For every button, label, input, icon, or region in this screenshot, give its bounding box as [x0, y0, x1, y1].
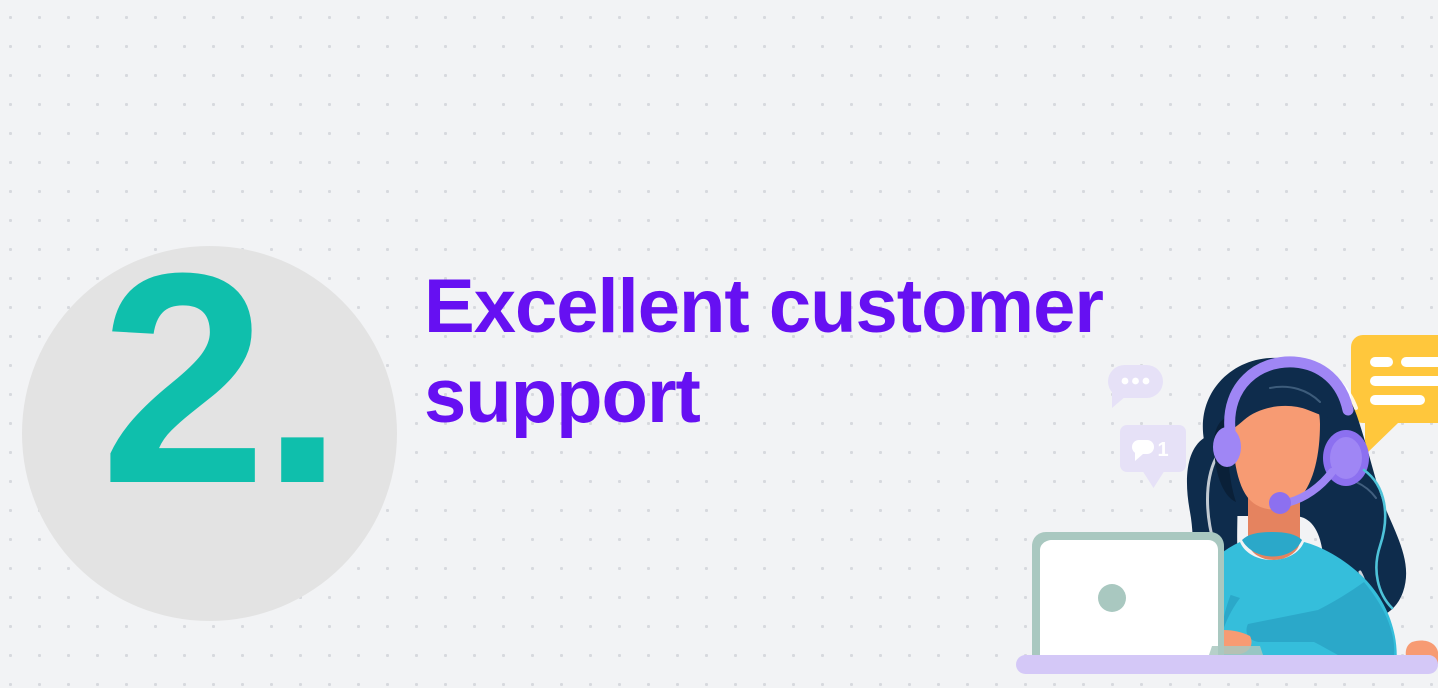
numeral-label: 2. [100, 228, 338, 528]
typing-bubble-icon [1108, 365, 1163, 408]
yellow-chat-bubble-icon [1351, 335, 1438, 455]
message-count-label: 1 [1157, 439, 1168, 461]
customer-support-illustration: 1 [1008, 320, 1438, 688]
slide-canvas: 2. Excellent customer support 1 [0, 0, 1438, 688]
message-count-bubble: 1 [1120, 425, 1186, 488]
desk-surface [1016, 655, 1438, 674]
